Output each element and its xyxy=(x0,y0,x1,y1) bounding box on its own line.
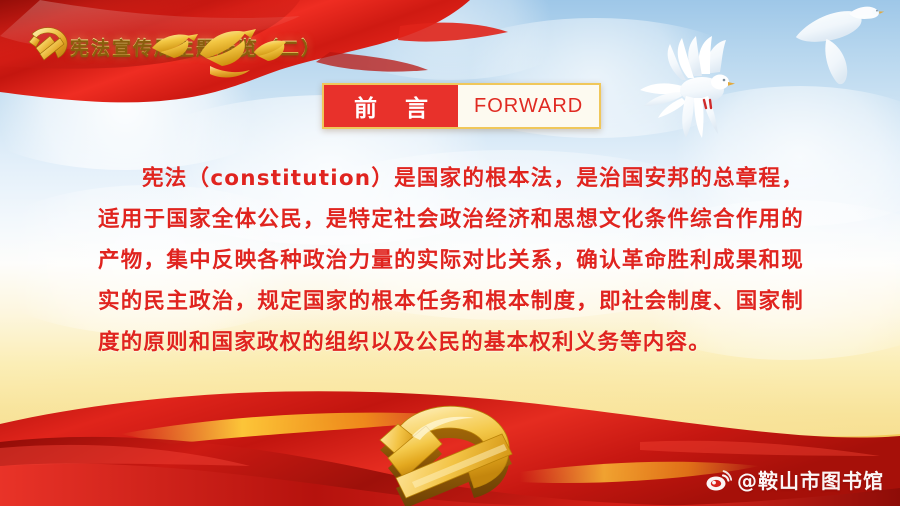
section-banner: 前 言 FORWARD xyxy=(322,83,601,129)
slide-canvas: 宪法宣传周主题展览（二） xyxy=(0,0,900,506)
weibo-watermark: @鞍山市图书馆 xyxy=(706,465,884,494)
hammer-and-sickle-icon xyxy=(352,396,548,506)
cloud-decor xyxy=(320,0,580,80)
banner-english-label: FORWARD xyxy=(458,85,599,127)
white-doves-icon xyxy=(638,0,898,140)
page-title: 宪法宣传周主题展览（二） xyxy=(70,33,322,60)
party-emblem-icon xyxy=(22,20,74,68)
weibo-handle: @鞍山市图书馆 xyxy=(737,465,884,494)
body-paragraph: 宪法（constitution）是国家的根本法，是治国安邦的总章程，适用于国家全… xyxy=(98,158,804,363)
banner-chinese-label: 前 言 xyxy=(324,85,458,127)
weibo-icon xyxy=(706,469,732,491)
